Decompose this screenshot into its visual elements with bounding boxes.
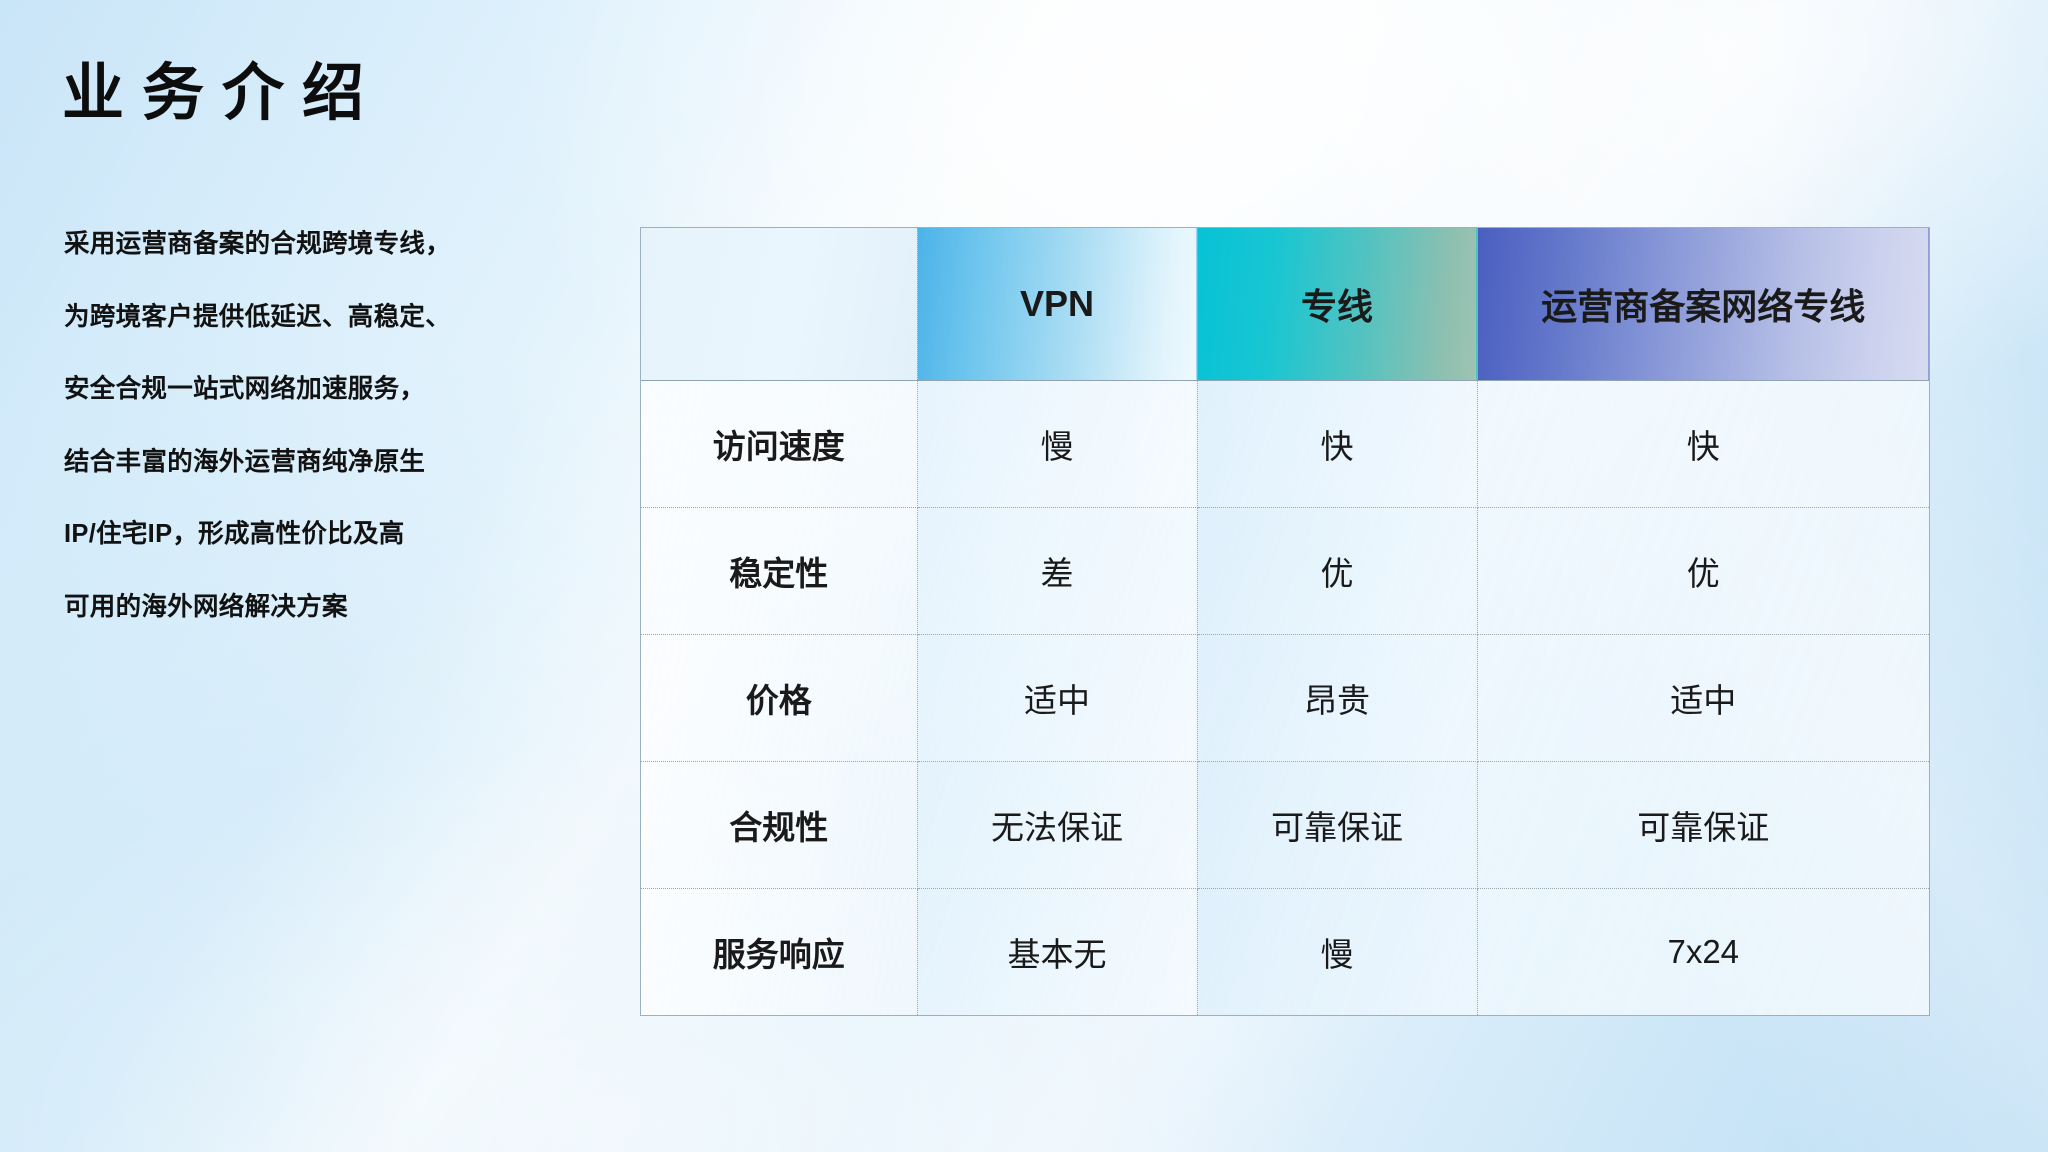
row-label-price: 价格 — [641, 635, 917, 762]
column-header-vpn: VPN — [917, 228, 1197, 381]
table-row: 访问速度 慢 快 快 — [641, 381, 1929, 508]
table-body: 访问速度 慢 快 快 稳定性 差 优 优 价格 适中 昂贵 适中 合规性 无法保… — [641, 381, 1929, 1016]
table-row: 价格 适中 昂贵 适中 — [641, 635, 1929, 762]
cell-carrier-price: 适中 — [1477, 635, 1929, 762]
lead-line-4: 结合丰富的海外运营商纯净原生 — [64, 450, 624, 476]
cell-vpn-stability: 差 — [917, 508, 1197, 635]
table-header-row: VPN 专线 运营商备案网络专线 — [641, 228, 1929, 381]
page-title: 业务介绍 — [62, 58, 382, 129]
lead-line-5: IP/住宅IP，形成高性价比及高 — [64, 522, 624, 548]
lead-line-1: 采用运营商备案的合规跨境专线， — [64, 232, 624, 258]
column-header-dedicated-line: 专线 — [1197, 228, 1477, 381]
cell-carrier-stability: 优 — [1477, 508, 1929, 635]
table-row: 服务响应 基本无 慢 7x24 — [641, 889, 1929, 1016]
row-label-compliance: 合规性 — [641, 762, 917, 889]
cell-line-stability: 优 — [1197, 508, 1477, 635]
cell-carrier-access-speed: 快 — [1477, 381, 1929, 508]
cell-vpn-access-speed: 慢 — [917, 381, 1197, 508]
cell-line-service-response: 慢 — [1197, 889, 1477, 1016]
cell-line-price: 昂贵 — [1197, 635, 1477, 762]
cell-vpn-price: 适中 — [917, 635, 1197, 762]
column-header-blank — [641, 228, 917, 381]
row-label-access-speed: 访问速度 — [641, 381, 917, 508]
cell-vpn-compliance: 无法保证 — [917, 762, 1197, 889]
lead-line-6: 可用的海外网络解决方案 — [64, 595, 624, 621]
lead-line-2: 为跨境客户提供低延迟、高稳定、 — [64, 305, 624, 331]
comparison-table: VPN 专线 运营商备案网络专线 访问速度 慢 快 快 稳定性 差 优 优 价格… — [641, 228, 1929, 1015]
column-header-carrier-line: 运营商备案网络专线 — [1477, 228, 1929, 381]
row-label-service-response: 服务响应 — [641, 889, 917, 1016]
cell-vpn-service-response: 基本无 — [917, 889, 1197, 1016]
table-row: 稳定性 差 优 优 — [641, 508, 1929, 635]
cell-line-access-speed: 快 — [1197, 381, 1477, 508]
table-header: VPN 专线 运营商备案网络专线 — [641, 228, 1929, 381]
table-row: 合规性 无法保证 可靠保证 可靠保证 — [641, 762, 1929, 889]
lead-line-3: 安全合规一站式网络加速服务， — [64, 377, 624, 403]
lead-paragraph: 采用运营商备案的合规跨境专线， 为跨境客户提供低延迟、高稳定、 安全合规一站式网… — [64, 232, 624, 620]
cell-line-compliance: 可靠保证 — [1197, 762, 1477, 889]
cell-carrier-compliance: 可靠保证 — [1477, 762, 1929, 889]
slide-canvas: 业务介绍 采用运营商备案的合规跨境专线， 为跨境客户提供低延迟、高稳定、 安全合… — [0, 0, 2048, 1152]
row-label-stability: 稳定性 — [641, 508, 917, 635]
cell-carrier-service-response: 7x24 — [1477, 889, 1929, 1016]
